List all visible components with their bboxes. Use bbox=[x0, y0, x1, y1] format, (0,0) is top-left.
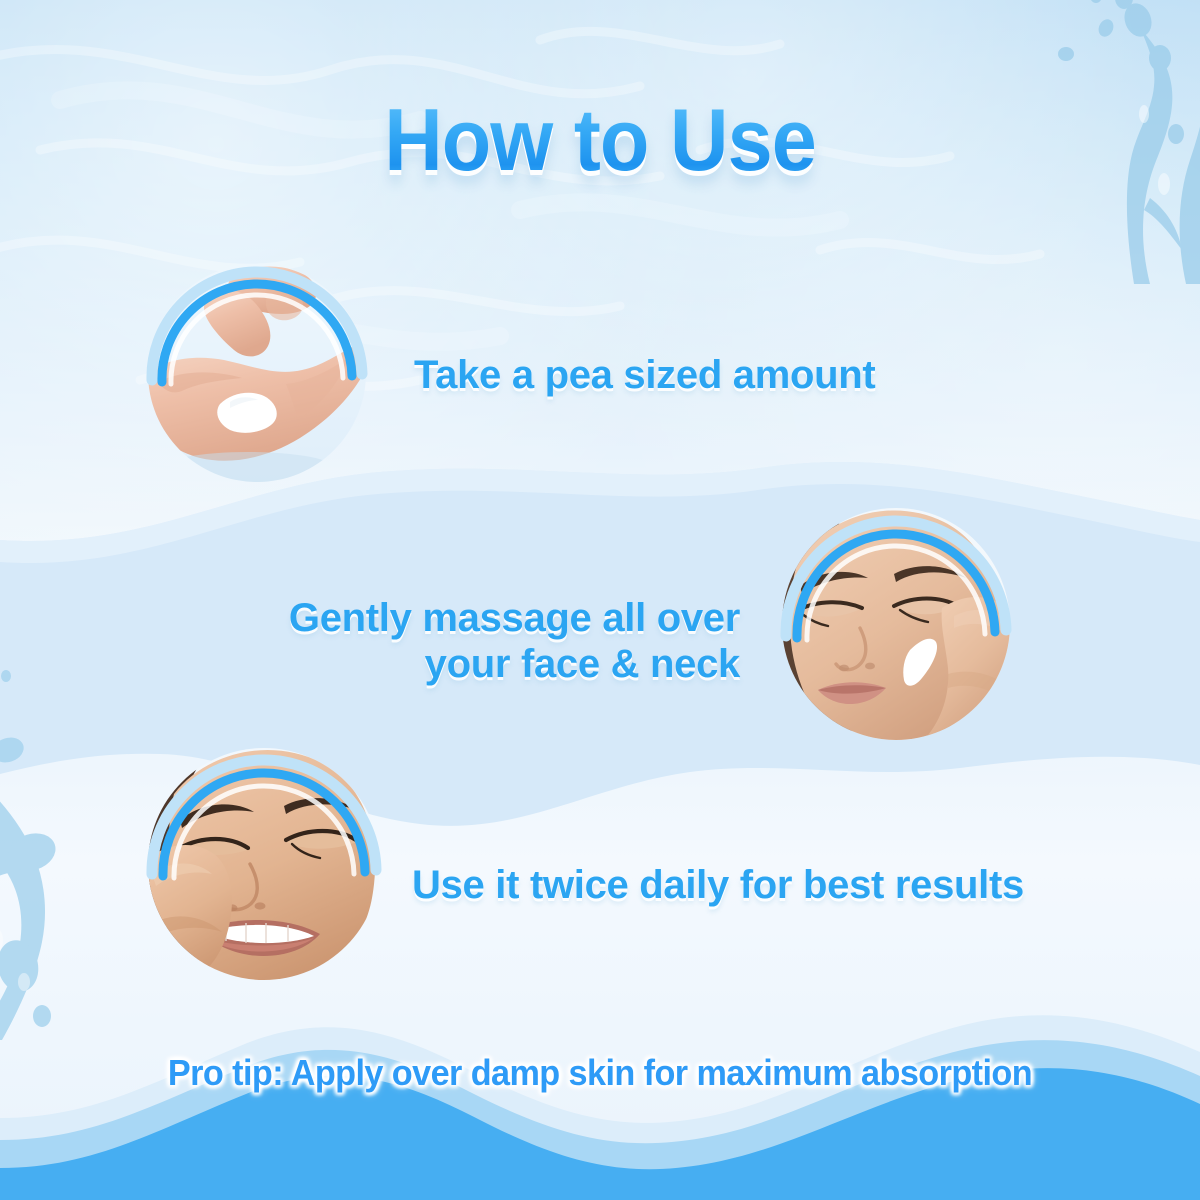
how-to-use-poster: How to Use bbox=[0, 0, 1200, 1200]
step-3-label: Use it twice daily for best results bbox=[412, 862, 1112, 908]
step-1-photo-circle bbox=[148, 264, 366, 482]
step-2-line-1: Gently massage all over bbox=[200, 595, 740, 641]
wave-divider-bottom bbox=[0, 1000, 1200, 1200]
water-splash-icon-left bbox=[0, 610, 162, 1040]
step-2-label: Gently massage all over your face & neck bbox=[200, 595, 740, 688]
step-1-label: Take a pea sized amount bbox=[414, 352, 974, 398]
woman-smiling-photo bbox=[148, 748, 380, 980]
step-3-photo-circle bbox=[148, 748, 380, 980]
woman-applying-cream-photo bbox=[782, 508, 1010, 740]
step-2-photo-circle bbox=[782, 508, 1010, 740]
hand-with-cream-photo bbox=[148, 264, 366, 482]
pro-tip-text: Pro tip: Apply over damp skin for maximu… bbox=[30, 1052, 1170, 1094]
step-2-line-2: your face & neck bbox=[200, 641, 740, 687]
page-title: How to Use bbox=[48, 96, 1152, 184]
